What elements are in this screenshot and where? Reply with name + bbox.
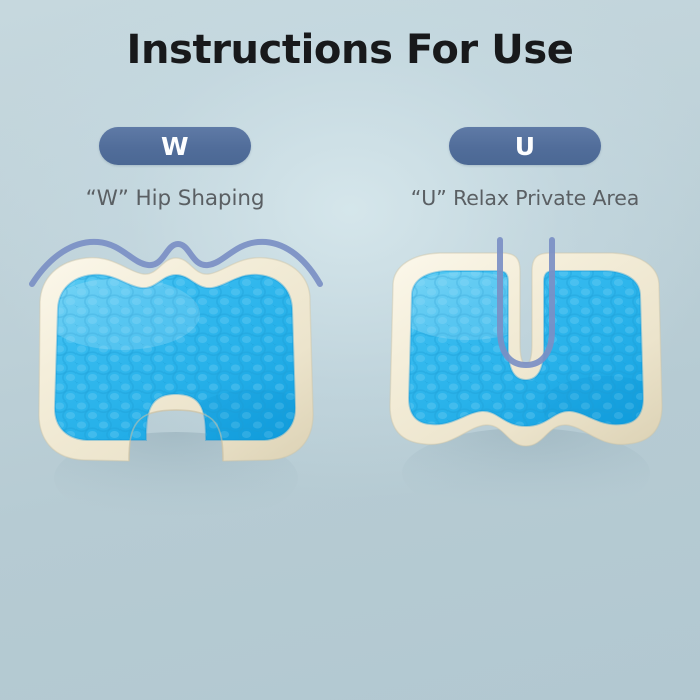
instruction-panel-w: W “W” Hip Shaping — [0, 118, 350, 678]
badge-u-letter: U — [515, 134, 536, 159]
infographic-canvas: Instructions For Use W “W” Hip Shaping — [0, 0, 700, 700]
badge-w: W — [99, 127, 251, 165]
page-title: Instructions For Use — [0, 27, 700, 73]
gel-insert — [44, 270, 320, 450]
u-shaped-gel-seat-cushion — [360, 230, 690, 560]
caption-w: “W” Hip Shaping — [0, 186, 350, 211]
w-shaped-gel-seat-cushion — [10, 230, 340, 560]
badge-u: U — [449, 127, 601, 165]
caption-u: “U” Relax Private Area — [350, 186, 700, 210]
gel-honeycomb-texture — [44, 270, 320, 450]
badge-w-letter: W — [161, 134, 189, 159]
instruction-panel-u: U “U” Relax Private Area — [350, 118, 700, 678]
